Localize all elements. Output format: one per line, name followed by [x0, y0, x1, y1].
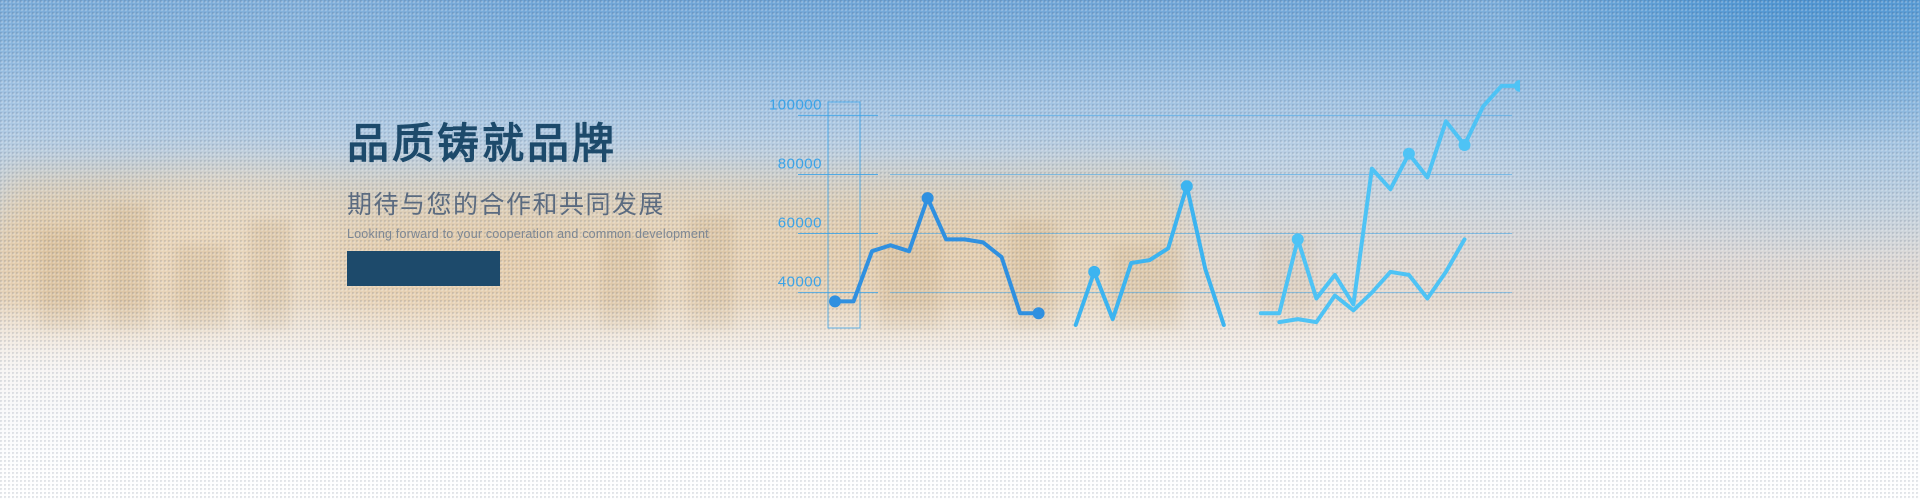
y-axis-tick-label: 60000 [778, 215, 822, 232]
chart-data-point [1514, 80, 1520, 92]
chart-series-line [835, 198, 1039, 313]
chart-data-point [1403, 148, 1415, 160]
chart-canvas: 100000800006000040000 [760, 80, 1520, 350]
chart-data-point [922, 192, 934, 204]
line-chart: 100000800006000040000 [760, 80, 1520, 350]
chart-series-line [1076, 186, 1224, 325]
chart-data-point [1033, 307, 1045, 319]
y-axis-tick-label: 100000 [769, 96, 822, 113]
chart-data-point [1181, 180, 1193, 192]
english-tagline: Looking forward to your cooperation and … [347, 226, 767, 242]
subtitle: 期待与您的合作和共同发展 [347, 190, 767, 220]
chart-data-point [1292, 233, 1304, 245]
y-axis-tick-label: 40000 [778, 274, 822, 291]
chart-series-line [1279, 239, 1464, 322]
hero-banner: 品质铸就品牌 期待与您的合作和共同发展 Looking forward to y… [0, 0, 1920, 500]
y-axis-tick-label: 80000 [778, 155, 822, 172]
cta-button[interactable] [347, 251, 500, 286]
chart-data-point [1088, 266, 1100, 278]
page-title: 品质铸就品牌 [347, 120, 767, 168]
chart-series-line [1261, 86, 1520, 313]
chart-data-point [829, 295, 841, 307]
chart-data-point [1459, 139, 1471, 151]
copy-block: 品质铸就品牌 期待与您的合作和共同发展 Looking forward to y… [347, 120, 767, 243]
